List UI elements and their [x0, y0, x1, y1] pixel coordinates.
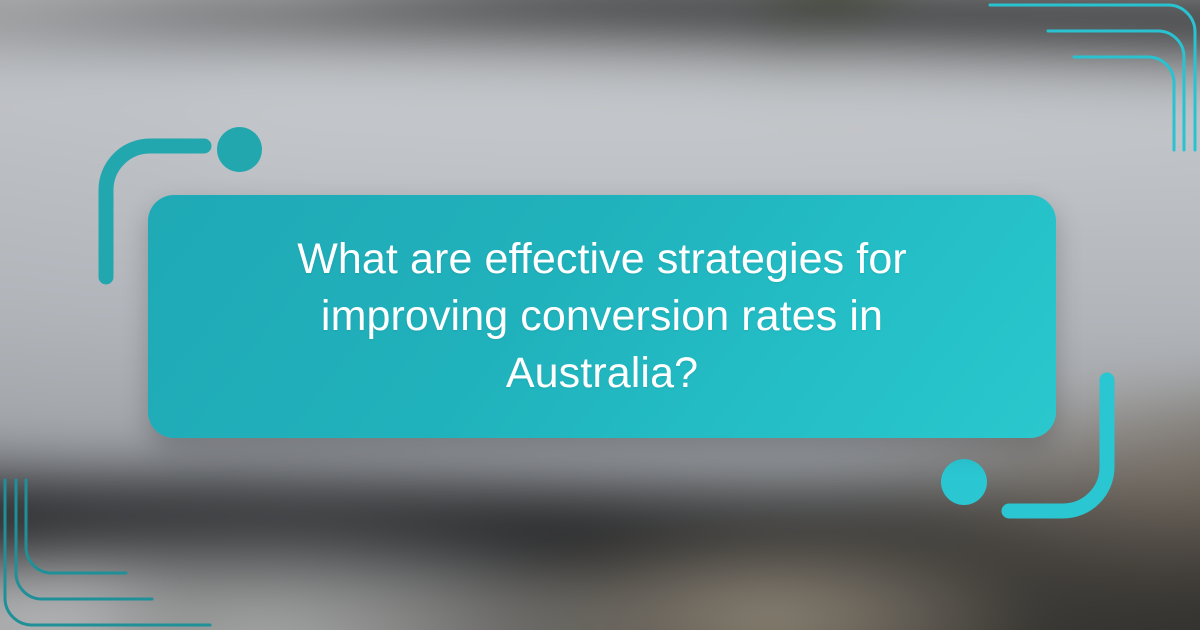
question-text: What are effective strategies for improv…: [252, 231, 952, 401]
question-card: What are effective strategies for improv…: [148, 195, 1056, 438]
poster-canvas: What are effective strategies for improv…: [0, 0, 1200, 630]
accent-dot-bottom-right: [941, 459, 987, 505]
accent-dot-top-left: [217, 127, 262, 172]
